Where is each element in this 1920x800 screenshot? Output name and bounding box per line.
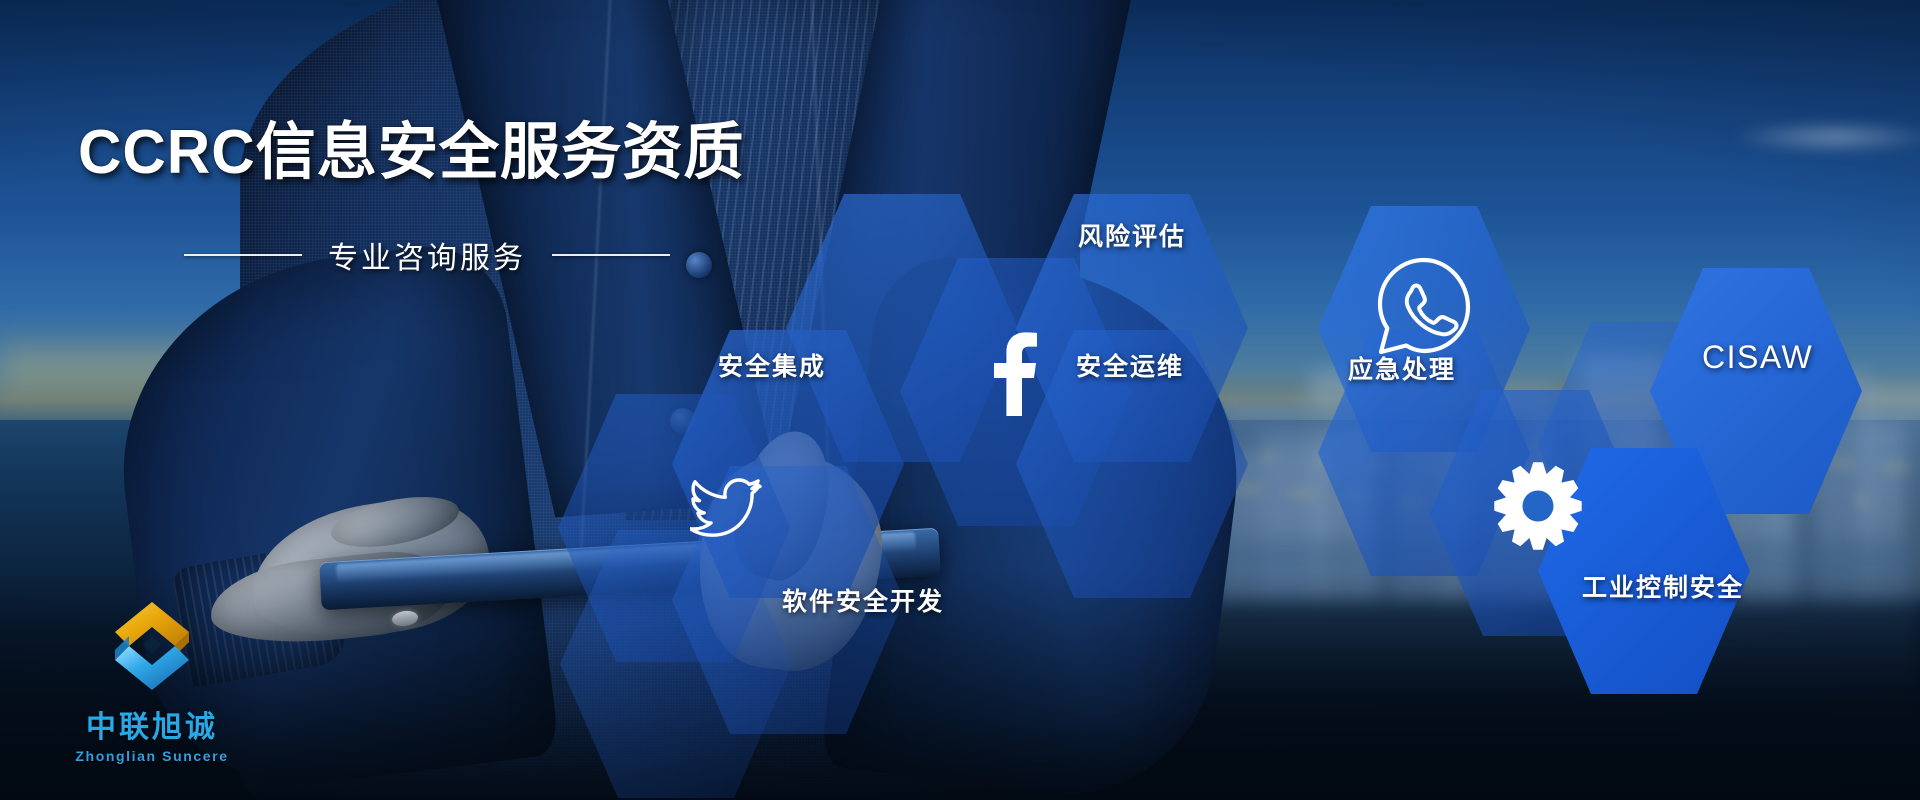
gear-icon [1492,460,1584,552]
hexagon-label-industrial-control-security: 工业控制安全 [1582,568,1744,604]
phone-chat-icon [1372,254,1476,358]
logo-name-cn: 中联旭诚 [52,702,252,746]
logo-mark-icon [97,596,207,696]
subtitle: 专业咨询服务 [328,233,526,277]
banner-hero: 安全集成 风险评估 安全运维 软件安全开发 [0,0,1920,800]
hexagon-label-cisaw: CISAW [1702,339,1813,376]
subtitle-rule-left [184,254,302,256]
company-logo[interactable]: 中联旭诚 Zhonglian Suncere [52,596,252,764]
hexagon-label-software-security-development: 软件安全开发 [782,582,944,618]
subtitle-row: 专业咨询服务 [184,233,898,277]
facebook-icon [992,330,1040,416]
logo-name-en: Zhonglian Suncere [52,748,252,764]
subtitle-rule-right [552,254,670,256]
hexagon-label-security-operations: 安全运维 [1076,347,1184,383]
twitter-bird-icon [690,478,762,540]
page-title: CCRC信息安全服务资质 [78,118,873,187]
hexagon-label-security-integration: 安全集成 [718,347,826,383]
title-block: CCRC信息安全服务资质 专业咨询服务 [78,118,898,277]
hexagon-label-risk-assessment: 风险评估 [1078,217,1186,253]
